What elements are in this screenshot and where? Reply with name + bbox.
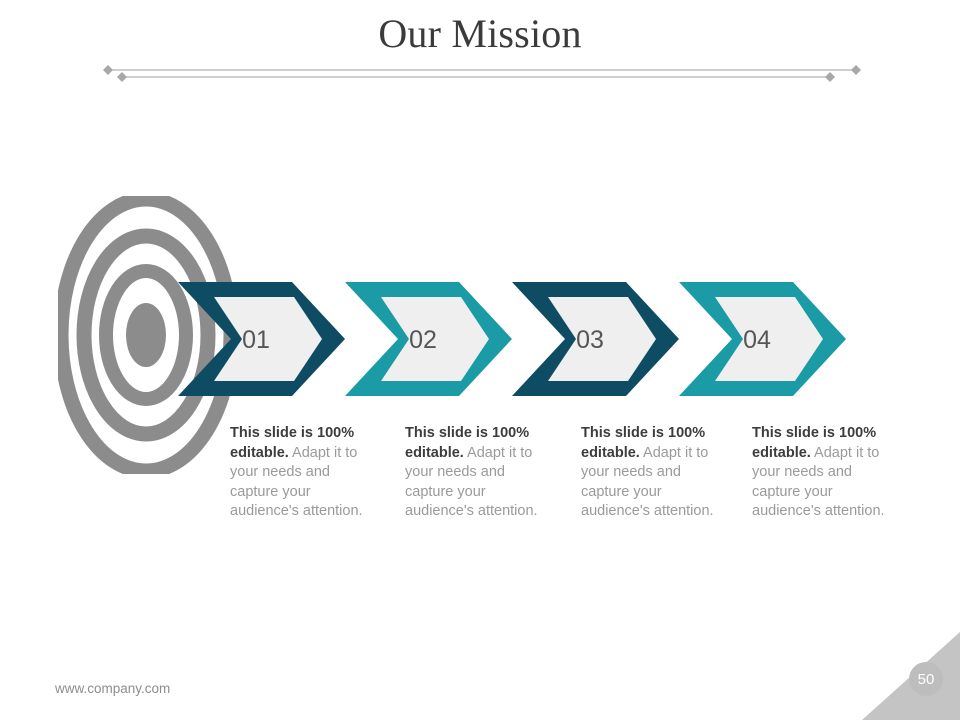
footer-website: www.company.com xyxy=(55,681,170,696)
chevron-step-03[interactable]: 03 xyxy=(512,282,679,396)
decorative-divider xyxy=(0,58,960,88)
description-column-04: This slide is 100% editable. Adapt it to… xyxy=(752,424,902,522)
chevron-step-band: 01 02 03 04 xyxy=(0,276,960,402)
chevron-number-02: 02 xyxy=(409,326,437,354)
divider-diamond-top-right xyxy=(851,65,861,75)
description-column-03: This slide is 100% editable. Adapt it to… xyxy=(581,424,731,522)
divider-diamond-top-left xyxy=(103,65,113,75)
chevron-number-01: 01 xyxy=(242,326,270,354)
chevron-step-02[interactable]: 02 xyxy=(345,282,512,396)
chevron-step-01[interactable]: 01 xyxy=(178,282,345,396)
page-number-badge: 50 xyxy=(909,662,943,696)
chevron-number-03: 03 xyxy=(576,326,604,354)
description-column-01: This slide is 100% editable. Adapt it to… xyxy=(230,424,380,522)
chevron-number-04: 04 xyxy=(743,326,771,354)
slide-canvas: Our Mission 01 xyxy=(0,0,960,720)
page-title: Our Mission xyxy=(0,10,960,57)
description-columns: This slide is 100% editable. Adapt it to… xyxy=(0,424,960,544)
divider-diamond-bottom-left xyxy=(117,72,127,82)
divider-diamond-bottom-right xyxy=(825,72,835,82)
chevron-step-04[interactable]: 04 xyxy=(679,282,846,396)
description-column-02: This slide is 100% editable. Adapt it to… xyxy=(405,424,555,522)
